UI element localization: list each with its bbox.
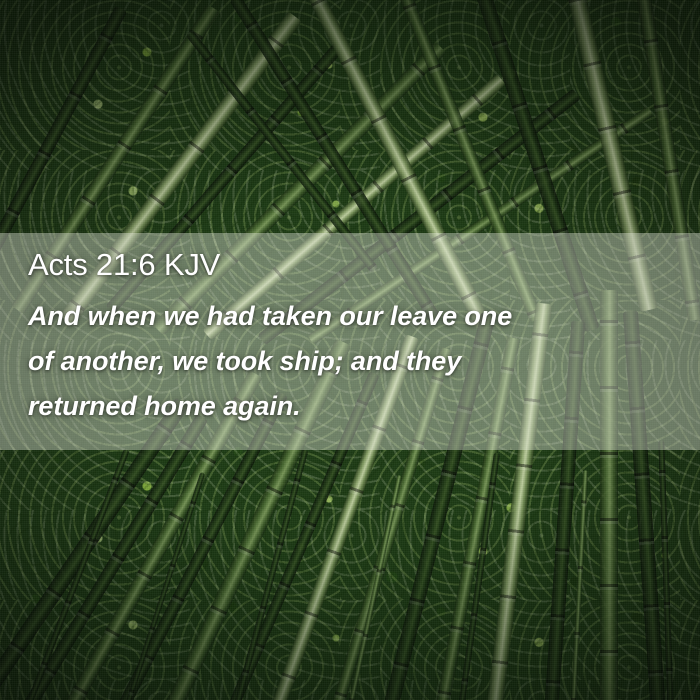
verse-text-line: And when we had taken our leave one [28, 294, 658, 339]
verse-image-canvas: Acts 21:6 KJV And when we had taken our … [0, 0, 700, 700]
verse-text-line: returned home again. [28, 384, 658, 429]
verse-text: And when we had taken our leave one of a… [28, 294, 658, 429]
verse-overlay-band: Acts 21:6 KJV And when we had taken our … [0, 233, 700, 450]
verse-reference: Acts 21:6 KJV [28, 249, 674, 280]
verse-text-line: of another, we took ship; and they [28, 339, 658, 384]
